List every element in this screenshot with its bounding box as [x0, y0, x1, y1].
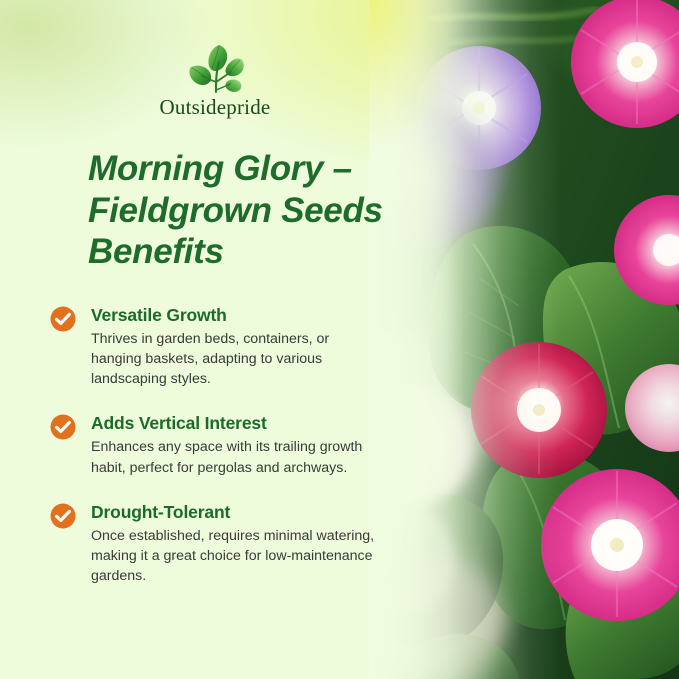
benefit-item: Versatile Growth Thrives in garden beds,… — [50, 305, 400, 389]
benefit-body: Enhances any space with its trailing gro… — [91, 437, 381, 477]
brand-name: Outsidepride — [160, 95, 271, 120]
benefit-text: Versatile Growth Thrives in garden beds,… — [91, 305, 400, 389]
benefits-list: Versatile Growth Thrives in garden beds,… — [50, 305, 400, 586]
benefit-text: Drought-Tolerant Once established, requi… — [91, 502, 400, 586]
benefit-item: Adds Vertical Interest Enhances any spac… — [50, 413, 400, 477]
page-title: Morning Glory – Fieldgrown Seeds Benefit… — [88, 148, 408, 273]
benefit-item: Drought-Tolerant Once established, requi… — [50, 502, 400, 586]
benefit-title: Versatile Growth — [91, 305, 400, 326]
check-circle-icon — [50, 306, 76, 332]
benefit-body: Thrives in garden beds, containers, or h… — [91, 329, 381, 389]
benefit-title: Drought-Tolerant — [91, 502, 400, 523]
leaf-sprout-icon — [178, 42, 252, 94]
content-column: Outsidepride Morning Glory – Fieldgrown … — [0, 0, 679, 679]
benefit-body: Once established, requires minimal water… — [91, 526, 381, 586]
benefit-title: Adds Vertical Interest — [91, 413, 400, 434]
brand-logo: Outsidepride — [0, 42, 430, 120]
check-circle-icon — [50, 503, 76, 529]
check-circle-icon — [50, 414, 76, 440]
benefit-text: Adds Vertical Interest Enhances any spac… — [91, 413, 400, 477]
